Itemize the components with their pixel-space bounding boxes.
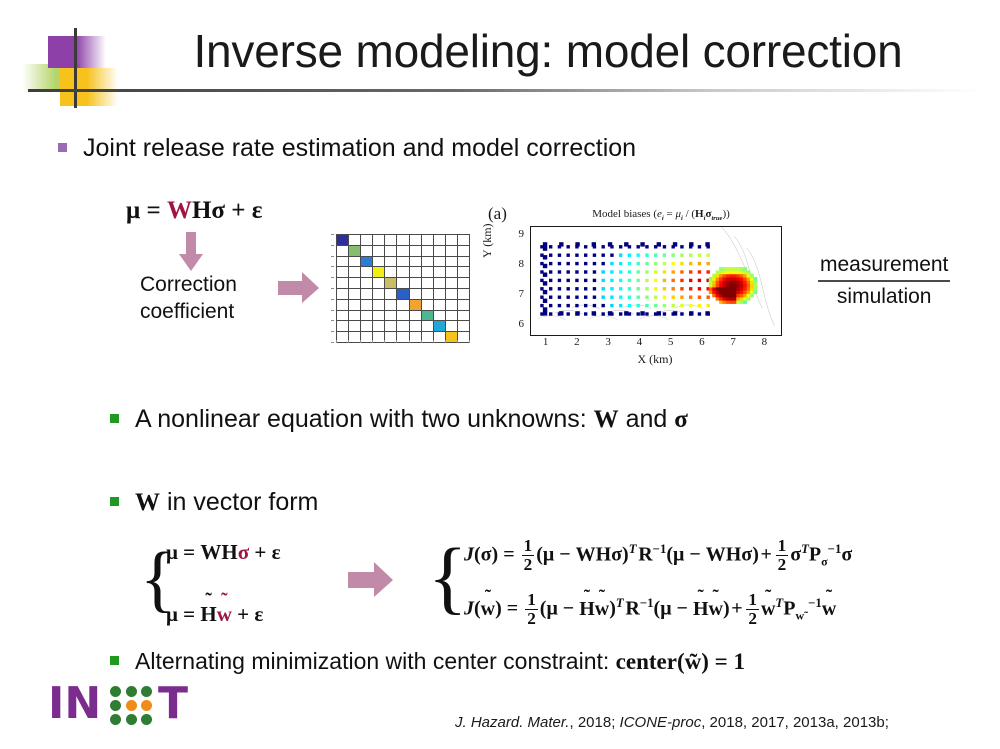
matrix-cell [458,257,470,268]
map-data-marker [575,262,578,265]
bullet-3-math-w: W [135,489,160,516]
map-plume-cell [726,270,730,274]
map-data-marker [584,270,587,273]
matrix-x-tick [396,340,397,343]
map-plume-cell [750,294,754,298]
map-data-marker [601,262,604,265]
matrix-y-tick [331,320,334,321]
map-data-marker [619,279,622,282]
map-data-marker [654,279,657,282]
matrix-y-tick [331,299,334,300]
map-data-marker [584,254,587,257]
map-boundary-marker [689,311,693,315]
logo-dot [110,714,121,725]
top-equation-w: W [167,197,192,224]
top-equation-sigma: σ [211,197,225,224]
map-boundary-marker [543,290,547,294]
matrix-cell [422,267,434,278]
correction-coefficient-label: Correction coefficient [140,272,237,326]
map-data-marker [636,287,639,290]
bullet-square-icon [110,414,119,423]
decor-yellow-block [60,68,118,106]
map-data-marker [549,254,552,257]
decor-vertical-line [74,28,77,108]
map-plume-cell [716,284,720,288]
matrix-cell [361,267,373,278]
map-y-tick-label: 8 [510,258,524,270]
map-plume-cell [750,284,754,288]
matrix-cell [434,235,446,246]
map-plume-cell [726,277,730,281]
logo-dot [126,686,137,697]
map-data-marker [610,270,613,273]
matrix-x-tick [336,340,337,343]
map-plume-cell [740,300,744,304]
map-plume-cell [750,277,754,281]
map-plume-cell [726,300,730,304]
map-x-axis-label: X (km) [530,352,780,367]
matrix-cell [458,289,470,300]
map-plume-cell [733,277,737,281]
matrix-cell [397,257,409,268]
fraction-denominator: simulation [818,284,950,309]
map-boundary-marker [543,281,547,285]
map-plume-cell [709,284,713,288]
matrix-cell [373,311,385,322]
map-data-marker [549,304,552,307]
map-data-marker [549,279,552,282]
map-plume-cell [716,290,720,294]
map-boundary-marker [543,242,547,246]
map-data-marker [628,262,631,265]
map-plume-cell [740,290,744,294]
map-title-suffix: )) [722,208,729,220]
matrix-cell [434,246,446,257]
map-data-marker [689,270,692,273]
map-plume-cell [733,290,737,294]
map-data-marker [680,245,683,248]
map-plume-cell [736,294,740,298]
map-plume-cell [747,297,751,301]
matrix-cell [373,289,385,300]
matrix-cell [422,278,434,289]
map-panel-label: (a) [488,204,507,224]
map-boundary-marker [640,242,644,246]
map-plume-cell [716,270,720,274]
logo-dot [110,686,121,697]
map-plume-cell [733,270,737,274]
map-y-tick-label: 9 [510,228,524,240]
logo-dot [126,714,137,725]
map-plume-cell [743,294,747,298]
matrix-cell [361,235,373,246]
matrix-cell [337,246,349,257]
logo-dot [141,700,152,711]
matrix-cell [446,311,458,322]
map-plume-cell [726,294,730,298]
matrix-cell [446,300,458,311]
map-plume-cell [726,280,730,284]
map-plume-cell [740,297,744,301]
matrix-cell [397,246,409,257]
map-data-marker [689,304,692,307]
map-plume-cell [747,277,751,281]
map-data-marker [680,270,683,273]
map-data-marker [654,262,657,265]
matrix-cell [458,300,470,311]
map-plume-cell [747,294,751,298]
bullet-square-icon [58,143,67,152]
map-data-marker [654,287,657,290]
matrix-cell [410,278,422,289]
top-equation: μ = WHσ + ε [126,197,262,225]
slide-canvas: Inverse modeling: model correction Joint… [0,0,1000,749]
map-data-marker [601,287,604,290]
map-plume-cell [729,277,733,281]
map-data-marker [558,287,561,290]
map-boundary-marker [592,311,596,315]
map-data-marker [680,279,683,282]
map-plume-cell [747,287,751,291]
map-data-marker [680,262,683,265]
map-plume-cell [736,280,740,284]
map-boundary-marker [657,242,661,246]
map-data-marker [575,254,578,257]
map-y-tick-label: 6 [510,318,524,330]
matrix-y-tick [331,277,334,278]
map-data-marker [645,312,648,315]
map-plume-cell [729,290,733,294]
map-plume-cell [719,297,723,301]
map-data-marker [610,262,613,265]
map-plume-cell [733,300,737,304]
map-data-marker [645,270,648,273]
matrix-cell [373,278,385,289]
map-data-marker [610,287,613,290]
map-plume-cell [747,280,751,284]
matrix-cell [349,267,361,278]
matrix-cell [446,235,458,246]
matrix-cell [361,311,373,322]
right-system-brace: { [428,536,467,618]
map-x-tick-label: 5 [664,336,678,348]
map-data-marker [575,279,578,282]
map-data-marker [566,279,569,282]
map-plume-cell [733,280,737,284]
map-plume-cell [712,280,716,284]
map-data-marker [689,254,692,257]
map-plume-cell [723,297,727,301]
map-plume-cell [736,270,740,274]
matrix-x-tick [445,340,446,343]
map-data-marker [706,270,709,273]
matrix-cell [434,289,446,300]
map-plume-cell [719,294,723,298]
map-plume-cell [740,277,744,281]
map-plume-cell [709,287,713,291]
matrix-y-tick [331,245,334,246]
matrix-cell [422,246,434,257]
map-plume-cell [729,270,733,274]
bullet-nonlinear-equation: A nonlinear equation with two unknowns: … [110,405,688,434]
matrix-cell [410,300,422,311]
bullet-square-icon [110,656,119,665]
matrix-y-tick [331,342,334,343]
map-data-marker [628,279,631,282]
matrix-x-tick [384,340,385,343]
map-data-marker [698,270,701,273]
logo-dot [141,714,152,725]
map-data-marker [645,245,648,248]
correction-label-line1: Correction [140,272,237,299]
map-data-marker [654,296,657,299]
map-plume-cell [726,287,730,291]
map-plume-cell [736,277,740,281]
map-data-marker [575,270,578,273]
map-data-marker [671,304,674,307]
matrix-cell [385,246,397,257]
map-data-marker [698,279,701,282]
bullet-4-math-center: center(w̃) = 1 [616,649,745,674]
map-boundary-marker [608,311,612,315]
matrix-cell [446,257,458,268]
map-data-marker [619,287,622,290]
map-data-marker [549,270,552,273]
map-title: Model biases (ei = μi / (Hiσtrue)) [530,208,792,222]
matrix-cell [434,321,446,332]
map-data-marker [671,254,674,257]
matrix-y-tick [331,288,334,289]
map-data-marker [575,304,578,307]
map-plume-cell [712,284,716,288]
map-plume-cell [723,277,727,281]
map-data-marker [601,312,604,315]
matrix-x-tick [348,340,349,343]
matrix-cell [361,246,373,257]
left-system-equation-2: μ = H˜w˜ + ε [166,602,263,627]
map-plume-cell [750,274,754,278]
map-data-marker [566,296,569,299]
map-data-marker [584,287,587,290]
map-plume-cell [740,294,744,298]
map-plume-cell [753,277,757,281]
map-plume-cell [723,270,727,274]
top-equation-h: H [192,197,211,224]
matrix-cell [385,311,397,322]
map-data-marker [619,270,622,273]
map-plume-cell [740,274,744,278]
map-data-marker [628,296,631,299]
map-plume-cell [747,284,751,288]
map-data-marker [619,304,622,307]
matrix-cell [349,246,361,257]
page-title: Inverse modeling: model correction [118,26,978,77]
map-y-tick-label: 7 [510,288,524,300]
matrix-cell [446,321,458,332]
map-data-marker [645,304,648,307]
map-boundary-marker [575,242,579,246]
matrix-y-tick [331,331,334,332]
matrix-cell [397,235,409,246]
map-plume-cell [712,287,716,291]
matrix-cell [361,289,373,300]
title-underline-rule [28,89,980,92]
map-plot-area [530,226,782,336]
map-data-marker [663,312,666,315]
map-data-marker [601,304,604,307]
matrix-cell [373,257,385,268]
map-data-marker [663,270,666,273]
matrix-cell [422,289,434,300]
matrix-cell [434,300,446,311]
bullet-2-math-sigma: σ [674,406,688,433]
map-data-marker [566,254,569,257]
map-plume-cell [712,277,716,281]
map-plume-cell [747,274,751,278]
map-data-marker [680,312,683,315]
map-plume-cell [740,287,744,291]
map-data-marker [619,245,622,248]
map-plume-cell [712,294,716,298]
map-plume-cell [719,290,723,294]
map-plume-cell [709,277,713,281]
map-data-marker [593,270,596,273]
matrix-cell [458,235,470,246]
matrix-cell [361,257,373,268]
map-data-marker [636,245,639,248]
map-plume-cell [743,270,747,274]
map-plume-cell [736,284,740,288]
map-plume-cell [729,297,733,301]
footer-year-1: , 2018; [569,714,619,731]
map-plume-cell [753,280,757,284]
map-title-h: H [695,208,704,220]
map-data-marker [566,262,569,265]
matrix-cell [385,321,397,332]
map-data-marker [663,254,666,257]
map-plume-cell [716,294,720,298]
map-plume-cell [733,274,737,278]
map-data-marker [593,296,596,299]
logo-text-left: IN [48,682,101,726]
map-data-marker [671,296,674,299]
map-x-tick-label: 1 [539,336,553,348]
map-boundary-marker [705,311,709,315]
matrix-cell [385,235,397,246]
map-data-marker [680,287,683,290]
map-plume-cell [719,287,723,291]
map-data-marker [628,254,631,257]
matrix-cell [422,300,434,311]
map-plume-cell [743,267,747,271]
map-title-slash: / ( [683,208,695,220]
map-data-marker [558,304,561,307]
map-data-marker [584,296,587,299]
map-plume-cell [723,290,727,294]
bullet-nonlinear-equation-label: A nonlinear equation with two unknowns: … [135,405,688,434]
map-data-marker [566,304,569,307]
matrix-x-tick [457,340,458,343]
map-data-marker [645,262,648,265]
map-plume-cell [743,277,747,281]
map-data-marker [610,296,613,299]
map-plume-cell [726,284,730,288]
matrix-cell [337,267,349,278]
map-data-marker [610,304,613,307]
bullet-square-icon [110,497,119,506]
map-boundary-marker [624,311,628,315]
matrix-cell [446,289,458,300]
map-plume-cell [723,284,727,288]
map-data-marker [671,287,674,290]
map-data-marker [663,245,666,248]
map-data-marker [619,296,622,299]
inet-logo: IN T [48,680,198,728]
map-plume-cell [743,297,747,301]
arrow-right-icon [278,272,320,304]
map-data-marker [663,262,666,265]
map-plume-cell [753,290,757,294]
map-data-marker [558,270,561,273]
map-heatmap-svg [531,227,781,335]
map-plume-cell [723,287,727,291]
map-plume-cell [733,284,737,288]
matrix-x-tick [409,340,410,343]
map-plume-cell [740,280,744,284]
map-data-marker [549,312,552,315]
matrix-cell [434,257,446,268]
map-data-marker [593,262,596,265]
matrix-x-tick [360,340,361,343]
map-plume-cell [733,287,737,291]
fraction-numerator: measurement [818,253,950,279]
matrix-cell [373,235,385,246]
map-data-marker [601,245,604,248]
matrix-cell [458,278,470,289]
map-plume-cell [709,280,713,284]
map-data-marker [584,262,587,265]
map-plume-cell [729,300,733,304]
bullet-w-vector-form-label: W in vector form [135,488,318,517]
matrix-cell [361,321,373,332]
map-boundary-marker [559,311,563,315]
matrix-y-axis [327,234,335,342]
map-data-marker [636,270,639,273]
matrix-y-tick [331,266,334,267]
map-data-marker [610,254,613,257]
logo-dot-matrix-icon [110,686,154,724]
right-equation-system: { J(σ) = 12(μ − WHσ)T R−1(μ − WHσ) + 12σ… [428,530,928,642]
measurement-over-simulation: measurement simulation [818,253,950,309]
matrix-cell [422,257,434,268]
map-plume-cell [743,287,747,291]
map-plume-cell [753,284,757,288]
map-plume-cell [736,300,740,304]
map-data-marker [584,304,587,307]
map-data-marker [566,312,569,315]
map-boundary-marker [673,311,677,315]
map-data-marker [654,270,657,273]
matrix-cell [397,278,409,289]
decor-purple-block [48,36,106,68]
map-title-sub-true: true [711,215,722,222]
map-plume-cell [716,274,720,278]
map-plume-cell [736,287,740,291]
map-data-marker [549,296,552,299]
map-plume-cell [716,280,720,284]
logo-dot [110,700,121,711]
matrix-cell [337,289,349,300]
